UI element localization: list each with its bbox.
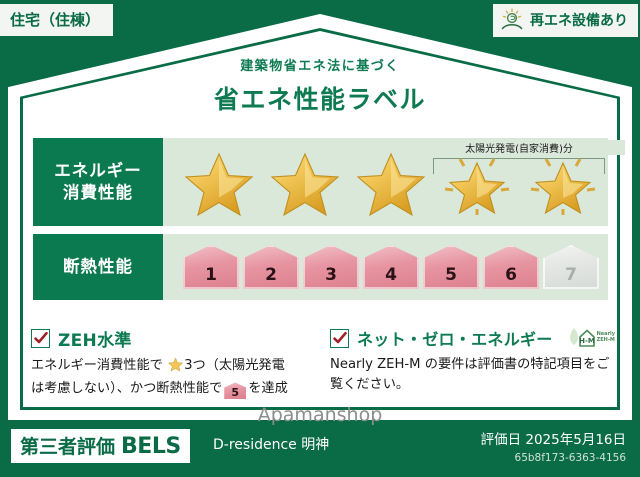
zeh-desc-part4: を達成: [248, 381, 288, 396]
grade-4: 4: [363, 245, 419, 289]
insulation-label-text: 断熱性能: [63, 256, 133, 278]
energy-label-line1: エネルギー: [54, 160, 142, 182]
check-icon: [33, 330, 49, 346]
evaluation-date: 評価日 2025年5月16日: [481, 428, 626, 448]
grade-3-value: 3: [325, 265, 337, 285]
solar-note-label: 太陽光発電(自家消費)分: [413, 140, 625, 155]
zeh-standard-heading: ZEH水準: [31, 326, 321, 351]
label-title: 建築物省エネ法に基づく 省エネ性能ラベル: [0, 55, 640, 116]
building-name: D-residence 明神: [213, 434, 329, 454]
net-zero-energy-title: ネット・ゼロ・エネルギー: [357, 326, 553, 350]
insulation-grade-scale: 1 2 3 4 5 6 7: [163, 234, 608, 300]
insulation-performance-body: 1 2 3 4 5 6 7: [163, 234, 608, 300]
svg-text:H-M: H-M: [579, 337, 595, 345]
logo-caption-line2: ZEH-M: [597, 337, 615, 343]
bels-logo: 第三者評価 BELS: [11, 429, 190, 463]
evaluation-uid: 65b8f173-6363-4156: [481, 452, 626, 464]
zeh-desc-part1: エネルギー消費性能で: [31, 358, 163, 373]
nearly-zeh-m-logo: H-M Nearly ZEH-M: [565, 326, 615, 350]
nearly-zeh-m-caption: Nearly ZEH-M: [597, 332, 615, 344]
grade-7: 7: [543, 245, 599, 289]
bels-logo-jp: 第三者評価: [20, 432, 115, 459]
grade-2: 2: [243, 245, 299, 289]
energy-consumption-label: エネルギー 消費性能: [33, 138, 163, 226]
zeh-house-icon: H-M: [565, 326, 595, 350]
grade-6: 6: [483, 245, 539, 289]
renewable-energy-tag-label: 再エネ設備あり: [530, 10, 628, 30]
grade-6-value: 6: [505, 265, 517, 285]
grade-2-value: 2: [265, 265, 277, 285]
grade-3: 3: [303, 245, 359, 289]
zeh-standard-block: ZEH水準 エネルギー消費性能で 3つ（太陽光発電 は考慮しない）、かつ断熱性能…: [31, 326, 321, 400]
zeh-standard-title: ZEH水準: [58, 326, 132, 351]
grade-7-value: 7: [565, 265, 577, 285]
net-zero-energy-block: ネット・ゼロ・エネルギー H-M Nearly ZEH-M Nearly ZEH…: [330, 326, 622, 396]
star-2: [263, 140, 347, 224]
star-1: [177, 140, 261, 224]
energy-consumption-row: エネルギー 消費性能 太陽光発電(自家消費)分: [33, 138, 608, 226]
insulation-performance-row: 断熱性能 1 2 3 4 5 6 7: [33, 234, 608, 300]
grade-1: 1: [183, 245, 239, 289]
grade-4-value: 4: [385, 265, 397, 285]
inline-grade-badge: 5: [224, 382, 246, 399]
building-type-tag: 住宅（住棟）: [0, 4, 113, 36]
title-main: 省エネ性能ラベル: [0, 80, 640, 116]
bels-logo-en: BELS: [121, 434, 181, 459]
net-zero-energy-description: Nearly ZEH-M の要件は評価書の特記項目をご覧ください。: [330, 355, 622, 396]
zeh-desc-part2: 3つ（太陽光発電: [184, 358, 285, 373]
solar-sun-icon: [499, 8, 525, 32]
grade-5-value: 5: [445, 265, 457, 285]
zeh-desc-part3: は考慮しない）、かつ断熱性能で: [31, 381, 222, 396]
energy-label-line2: 消費性能: [63, 182, 133, 204]
zeh-standard-description: エネルギー消費性能で 3つ（太陽光発電 は考慮しない）、かつ断熱性能で5を達成: [31, 356, 321, 400]
grade-5: 5: [423, 245, 479, 289]
grade-1-value: 1: [205, 265, 217, 285]
footer-bar: 第三者評価 BELS D-residence 明神 評価日 2025年5月16日…: [0, 420, 640, 477]
renewable-energy-tag: 再エネ設備あり: [493, 4, 638, 37]
energy-consumption-body: 太陽光発電(自家消費)分: [163, 138, 608, 226]
check-icon: [332, 330, 348, 346]
insulation-performance-label: 断熱性能: [33, 234, 163, 300]
evaluation-info: 評価日 2025年5月16日 65b8f173-6363-4156: [481, 428, 626, 464]
energy-performance-label: 住宅（住棟） 再エネ設備あり 建築物省エネ法に基づく 省エネ性能ラベル: [0, 0, 640, 477]
net-zero-energy-heading: ネット・ゼロ・エネルギー H-M Nearly ZEH-M: [330, 326, 622, 350]
title-subtitle: 建築物省エネ法に基づく: [0, 55, 640, 74]
zeh-standard-checkbox: [31, 329, 50, 348]
inline-star-icon: [168, 357, 183, 379]
net-zero-energy-checkbox: [330, 329, 349, 348]
